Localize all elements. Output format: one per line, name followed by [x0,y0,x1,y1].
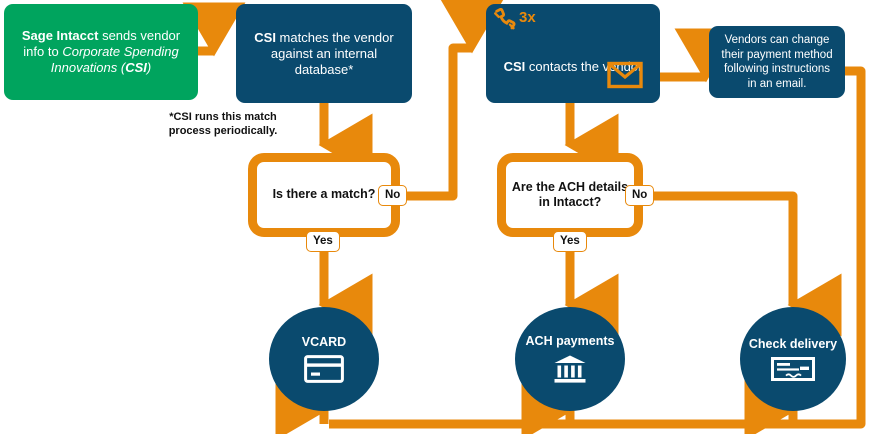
envelope-icon [607,61,643,89]
flow-diagram-canvas: Sage Intacct sends vendor info to Corpor… [0,0,869,434]
decision-ach-details-text: Are the ACH details in Intacct? [506,180,634,211]
footnote-match-process: *CSI runs this match process periodicall… [168,111,278,138]
run-bold-italic: CSI [125,60,147,75]
badge-3x-label: 3x [519,10,536,25]
run-italic-close: ) [147,60,151,75]
node-vendors-can-change: Vendors can change their payment method … [709,26,845,98]
decision-is-there-a-match-text: Is there a match? [273,187,376,203]
run-italic: Corporate Spending Innovations ( [51,44,179,75]
outcome-vcard: VCARD [269,307,379,411]
node-sage-intacct-text: Sage Intacct sends vendor info to Corpor… [4,28,198,76]
label-no-ach: No [625,185,654,206]
check-icon [771,357,815,381]
decision-ach-details-in-intacct: Are the ACH details in Intacct? [497,153,643,237]
bank-icon [553,354,587,384]
label-yes-ach: Yes [553,231,587,252]
credit-card-icon [304,355,344,383]
run-bold: Sage Intacct [22,28,99,43]
run-bold: CSI [254,30,276,45]
outcome-ach-payments: ACH payments [515,307,625,411]
conn-decision2-no-to-check [636,196,793,305]
outcome-vcard-label: VCARD [302,335,346,350]
run-bold: CSI [504,59,526,74]
node-csi-matches-vendor: CSI matches the vendor against an intern… [236,4,412,103]
node-csi-matches-text: CSI matches the vendor against an intern… [236,30,412,78]
phone-icon [492,8,518,34]
label-no-match: No [378,185,407,206]
outcome-check-delivery: Check delivery [740,307,846,411]
node-sage-intacct-start: Sage Intacct sends vendor info to Corpor… [4,4,198,100]
outcome-check-delivery-label: Check delivery [749,337,837,352]
run-normal: matches the vendor against an internal d… [271,30,394,77]
label-yes-match: Yes [306,231,340,252]
node-vendors-text: Vendors can change their payment method … [709,33,845,91]
outcome-ach-payments-label: ACH payments [526,334,615,349]
